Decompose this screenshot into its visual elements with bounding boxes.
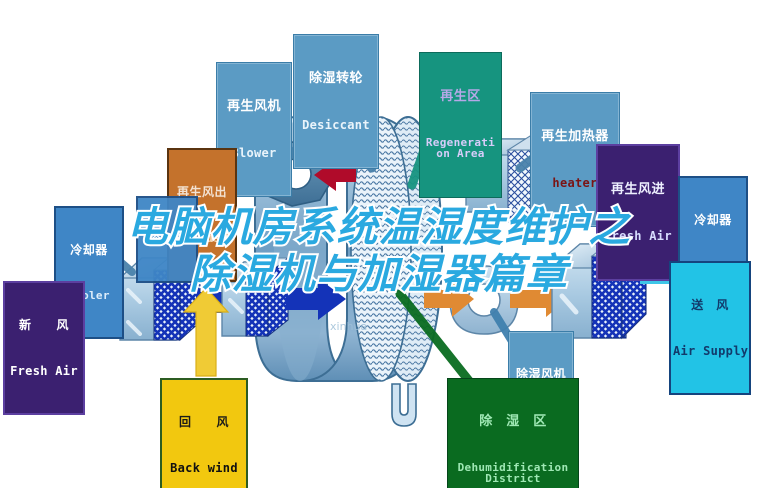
label-air-supply: 送 风 Air Supply	[669, 261, 751, 395]
label-desiccant: 除湿转轮 Desiccant	[293, 34, 379, 169]
label-regeneration-area: 再生区 Regenerati on Area	[419, 52, 502, 198]
label-dehumidification-district: 除 湿 区 Dehumidification District	[447, 378, 579, 488]
svg-text:xinhua: xinhua	[330, 320, 367, 333]
diagram-canvas: xinhua	[0, 0, 757, 488]
label-regeneration-fresh-air: 再生风进 Fresh Air	[596, 144, 680, 281]
label-cooler-middle: 冷却器	[136, 196, 198, 283]
condensate-drain	[392, 384, 416, 426]
label-back-wind: 回 风 Back wind	[160, 378, 248, 488]
label-fresh-air: 新 风 Fresh Air	[3, 281, 85, 415]
